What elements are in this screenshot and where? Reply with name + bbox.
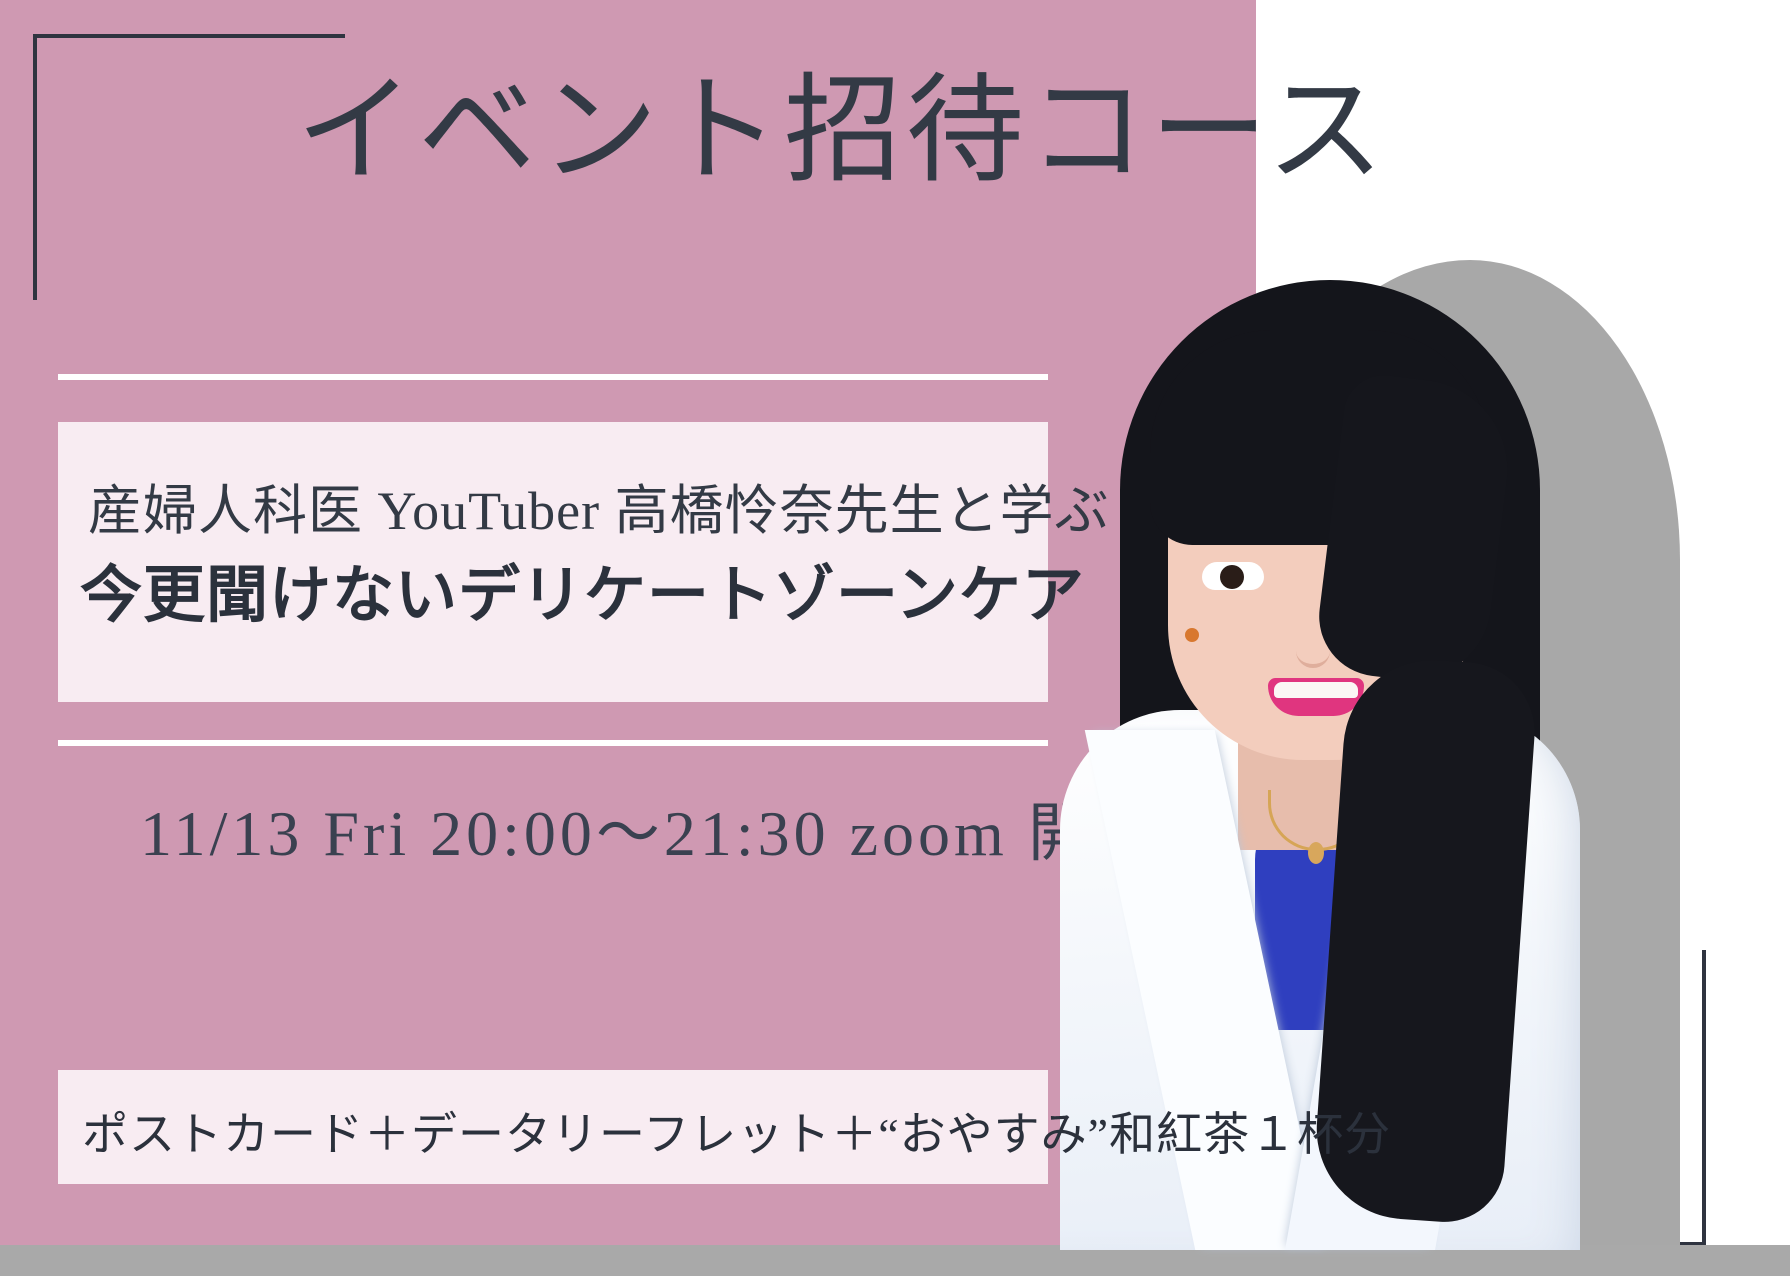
headline-bold-line: 今更聞けないデリケートゾーンケア (80, 544, 1085, 634)
eye-left (1202, 562, 1264, 590)
necklace-pendant (1308, 842, 1324, 864)
pupil-left (1220, 565, 1244, 589)
divider-rule-top (58, 374, 1048, 380)
event-poster: イベント招待コース 産婦人科医 YouTuber 高橋怜奈先生と学ぶ 今更聞けな… (0, 0, 1790, 1276)
portrait-photo-doctor (1000, 230, 1700, 1245)
portrait-base (1000, 1240, 1700, 1250)
headline-serif-line: 産婦人科医 YouTuber 高橋怜奈先生と学ぶ (88, 466, 1110, 545)
divider-rule-bottom (58, 740, 1048, 746)
page-title: イベント招待コース (296, 58, 1396, 206)
headline-box: 産婦人科医 YouTuber 高橋怜奈先生と学ぶ 今更聞けないデリケートゾーンケ… (58, 422, 1048, 702)
earring (1185, 628, 1199, 642)
teeth (1274, 682, 1358, 698)
bonus-text: ポストカード＋データリーフレット＋“おやすみ”和紅茶１杯分 (82, 1098, 1391, 1164)
